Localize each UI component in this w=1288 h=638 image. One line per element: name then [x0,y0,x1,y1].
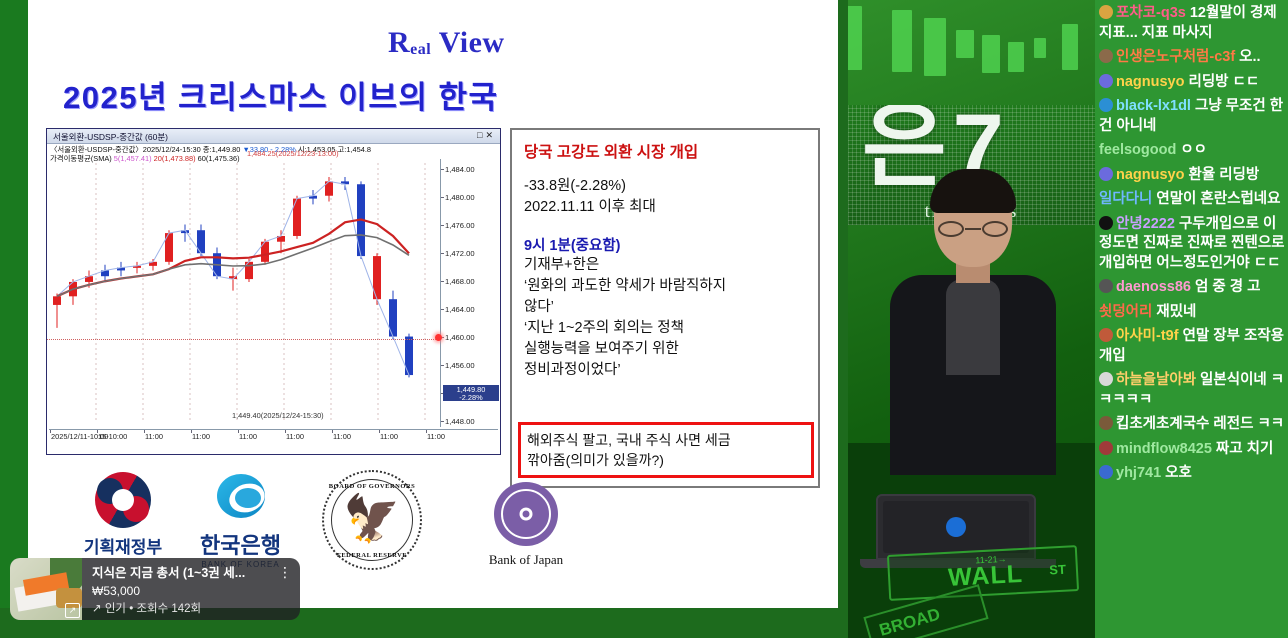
avatar [1099,279,1113,293]
boj-seal-icon [494,482,558,546]
product-stats-text: 인기 • 조회수 142회 [105,603,201,615]
y-axis-tick: 1,468.00 [445,277,475,286]
stream-page: Real View 2025년 크리스마스 이브의 한국 서울외환-USDSP-… [0,0,1288,638]
x-axis-tick: 11:00 [333,432,351,441]
highlighted-note-line-1: 해외주식 팔고, 국내 주식 사면 세금 [527,430,805,450]
x-axis-tick: 11:00 [145,432,163,441]
realview-r: R [388,26,410,59]
open-in-new-icon[interactable]: ↗ [65,603,80,618]
commentary-inner: 당국 고강도 외환 시장 개입 -33.8원(-2.28%) 2022.11.1… [512,130,818,381]
logo-federal-reserve: BOARD OF GOVERNORS 🦅 FEDERAL RESERVE [313,470,431,570]
chat-author[interactable]: 일다다니 [1099,191,1152,207]
product-stats: ↗ 인기 • 조회수 142회 [92,600,262,616]
avatar [1099,372,1113,386]
y-axis-tick: 1,464.00 [445,305,475,314]
street-sign-suffix: ST [1049,562,1066,578]
chat-author[interactable]: 포차코-q3s [1116,5,1186,21]
host-person [888,175,1058,475]
avatar [1099,328,1113,342]
alert-marker-icon [435,334,442,341]
chat-message[interactable]: mindflow8425짜고 치기 [1099,440,1286,460]
x-axis-tick: 11:00 [192,432,210,441]
chat-message[interactable]: 인생은노구처럼-c3f오.. [1099,48,1286,68]
chat-text: ㅇㅇ [1180,142,1207,158]
product-meta: 지식은 지금 총서 (1~3권 세... ₩53,000 ↗ 인기 • 조회수 … [82,558,270,620]
chat-author[interactable]: 킵초게초계국수 [1116,416,1209,432]
avatar [1099,441,1113,455]
realview-eal: eal [410,41,431,58]
logo-bok-label: 한국은행 [178,528,303,560]
chat-author[interactable]: 인생은노구처럼-c3f [1116,49,1235,65]
chat-text: 엄 중 경 고 [1195,279,1260,295]
left-green-strip [0,0,28,638]
candlestick-svg [49,163,439,423]
logo-moef: 기획재정부 [68,472,178,558]
current-change-value: -2.28% [443,394,499,402]
avatar [1099,416,1113,430]
commentary-line-1: -33.8원(-2.28%) [524,176,808,197]
y-axis-tick: 1,472.00 [445,249,475,258]
commentary-line-2: 2022.11.11 이후 최대 [524,197,808,218]
commentary-blue-heading: 9시 1분(중요함) [524,234,808,255]
taegeuk-icon [95,472,151,528]
presentation-slide: Real View 2025년 크리스마스 이브의 한국 서울외환-USDSP-… [28,0,838,608]
chart-window-controls[interactable]: □✕ [477,130,496,141]
chat-message[interactable]: 포차코-q3s12월말이 경제지표... 지표 마사지 [1099,4,1286,43]
chat-author[interactable]: feelsogood [1099,142,1176,158]
fx-chart-window: 서울외환-USDSP-중간값 (60분) □✕ 〈서울외환-USDSP-중간값〉… [46,128,501,455]
fed-seal-top-text: BOARD OF GOVERNORS [324,483,420,490]
candlestick-plot [49,163,439,423]
commentary-line-4: ‘원화의 과도한 약세가 바람직하지 [524,276,808,297]
chat-text: 재밌네 [1156,304,1196,320]
chat-text: 오호 [1165,465,1192,481]
chat-message[interactable]: yhj741오호 [1099,464,1286,484]
chat-message[interactable]: daenoss86엄 중 경 고 [1099,278,1286,298]
chat-message[interactable]: feelsogoodㅇㅇ [1099,141,1286,161]
y-axis-tick: 1,484.00 [445,165,475,174]
commentary-line-8: 정비과정이었다’ [524,360,808,381]
chat-author[interactable]: 아사미-t9f [1116,328,1179,344]
crosshair-dotted-line [47,339,440,340]
chat-message[interactable]: 쇳덩어리재밌네 [1099,303,1286,323]
logo-moef-label: 기획재정부 [68,533,178,558]
chart-quote-main: 〈서울외환-USDSP-중간값〉2025/12/24-15:30 종:1,449… [50,145,242,154]
avatar [1099,49,1113,63]
y-axis-tick: 1,460.00 [445,333,475,342]
product-promo-card[interactable]: ↗ 지식은 지금 총서 (1~3권 세... ₩53,000 ↗ 인기 • 조회… [10,558,300,620]
period-low-label: 1,449.40(2025/12/24-15:30) [232,411,324,420]
trending-up-icon: ↗ [92,603,102,615]
current-price-tag: 1,449.80 -2.28% [443,385,499,401]
logo-bok: 한국은행 BANK OF KOREA [178,474,303,569]
chat-author[interactable]: 쇳덩어리 [1099,304,1152,320]
avatar [1099,465,1113,479]
realview-logo: Real View [388,26,505,60]
chat-message[interactable]: nagnusyo리딩방 ㄷㄷ [1099,73,1286,93]
chat-text: 오.. [1239,49,1260,65]
chat-message[interactable]: 하늘을날아봐일본식이네 ㅋㅋㅋㅋㅋ [1099,371,1286,410]
chat-author[interactable]: mindflow8425 [1116,441,1212,457]
avatar [1099,98,1113,112]
commentary-line-7: 실행능력을 보여주기 위한 [524,339,808,360]
commentary-line-3: 기재부+한은 [524,255,808,276]
chat-author[interactable]: 하늘을날아봐 [1116,372,1196,388]
commentary-headline: 당국 고강도 외환 시장 개입 [524,140,808,162]
screen-share-area: Real View 2025년 크리스마스 이브의 한국 서울외환-USDSP-… [0,0,848,638]
product-thumbnail: ↗ [10,558,82,620]
fed-seal-bottom-text: FEDERAL RESERVE [324,552,420,559]
x-axis-tick: 11:00 [427,432,445,441]
x-axis-tick: 11:00 [380,432,398,441]
logo-boj-label: Bank of Japan [451,552,601,568]
chat-text: 리딩방 ㄷㄷ [1188,74,1259,90]
chart-x-axis: 2025/12/11-10:0015-10:0011:0011:0011:001… [49,429,498,443]
y-axis-tick: 1,476.00 [445,221,475,230]
chat-message[interactable]: black-lx1dl그냥 무조건 한건 아니네 [1099,97,1286,136]
chart-titlebar: 서울외환-USDSP-중간값 (60분) □✕ [47,129,500,144]
chat-text: 환율 리딩방 [1188,167,1259,183]
chat-text: 짜고 치기 [1216,441,1273,457]
webcam-panel: 은7 tifu eld is 11-21→ WALL ST BROAD [848,0,1095,638]
chat-message[interactable]: 킵초게초계국수레전드 ㅋㅋ [1099,415,1286,435]
avatar [1099,216,1113,230]
fed-seal-icon: BOARD OF GOVERNORS 🦅 FEDERAL RESERVE [322,470,422,570]
chat-author[interactable]: nagnusyo [1116,74,1184,90]
avatar [1099,74,1113,88]
street-sign-name: WALL [947,560,1023,593]
product-price: ₩53,000 [92,584,262,598]
chat-text: 연말이 혼란스럽네요 [1156,191,1280,207]
product-title: 지식은 지금 총서 (1~3권 세... [92,562,262,581]
chat-message[interactable]: 안녕2222구두개입으로 이정도면 진짜로 진짜로 찐텐으로 개입하면 어느정도… [1099,215,1286,274]
right-green-strip [838,0,848,638]
avatar [1099,5,1113,19]
chat-text: 레전드 ㅋㅋ [1213,416,1284,432]
close-icon[interactable]: ✕ [485,130,496,140]
bok-swirl-icon [213,474,269,524]
y-axis-tick: 1,448.00 [445,417,475,426]
chat-author[interactable]: 안녕2222 [1116,216,1175,232]
chat-message[interactable]: 아사미-t9f연말 장부 조작용 개입 [1099,327,1286,366]
chat-author[interactable]: daenoss86 [1116,279,1191,295]
live-chat-panel[interactable]: 포차코-q3s12월말이 경제지표... 지표 마사지인생은노구처럼-c3f오.… [1095,0,1288,638]
commentary-panel: 당국 고강도 외환 시장 개입 -33.8원(-2.28%) 2022.11.1… [510,128,820,488]
commentary-line-6: ‘지난 1~2주의 회의는 정책 [524,318,808,339]
logo-bank-of-japan: Bank of Japan [451,482,601,568]
x-axis-tick: 15-10:00 [98,432,127,441]
glasses-icon [938,221,1008,237]
kebab-menu-icon[interactable]: ⋮ [270,564,300,581]
period-high-label: 1,484.25(2025/12/23-13:00) [247,149,339,158]
fed-eagle-icon: 🦅 [343,495,400,541]
chat-author[interactable]: nagnusyo [1116,167,1184,183]
y-axis-tick: 1,480.00 [445,193,475,202]
page-title: 2025년 크리스마스 이브의 한국 [63,72,499,117]
chart-window-title: 서울외환-USDSP-중간값 (60분) [53,132,168,142]
chat-message[interactable]: 일다다니연말이 혼란스럽네요 [1099,190,1286,210]
highlighted-note-line-2: 깎아줌(의미가 있을까?) [527,450,805,470]
chat-message[interactable]: nagnusyo환율 리딩방 [1099,166,1286,186]
realview-view: View [439,26,505,59]
chat-author[interactable]: yhj741 [1116,465,1161,481]
x-axis-tick: 11:00 [239,432,257,441]
commentary-line-5: 않다’ [524,297,808,318]
x-axis-tick: 11:00 [286,432,304,441]
y-axis-tick: 1,456.00 [445,361,475,370]
chat-author[interactable]: black-lx1dl [1116,98,1191,114]
avatar [1099,167,1113,181]
